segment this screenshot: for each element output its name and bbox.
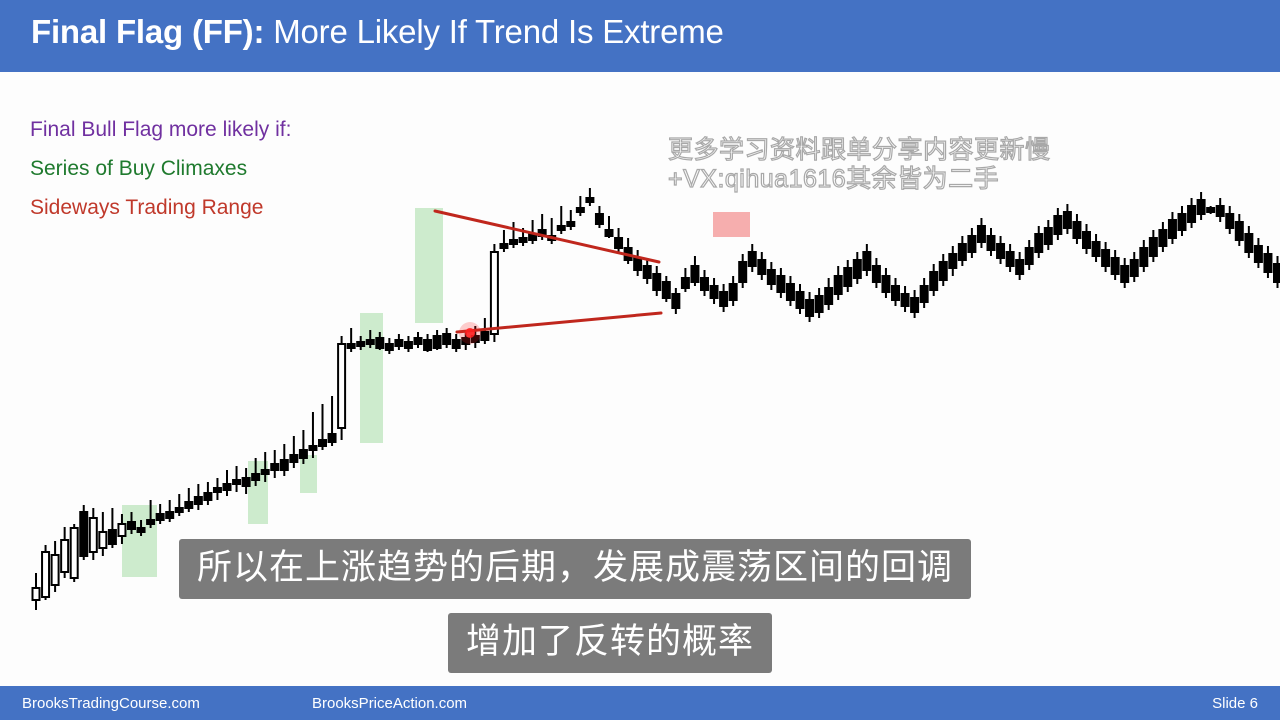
candle-body-down bbox=[147, 520, 154, 524]
candle-body-down bbox=[768, 270, 775, 284]
candle-body-down bbox=[749, 252, 756, 266]
candle-body-down bbox=[1083, 232, 1090, 248]
cursor-dot bbox=[465, 328, 475, 338]
candle-body-down bbox=[1159, 230, 1166, 246]
candle-body-down bbox=[1093, 242, 1100, 256]
trendlines bbox=[435, 211, 661, 332]
candle-body-down bbox=[596, 214, 603, 224]
candle-body-down bbox=[329, 434, 336, 442]
candle-body-down bbox=[644, 266, 651, 278]
candle-body-down bbox=[443, 334, 450, 344]
candle-body-up bbox=[118, 524, 125, 536]
candle-body-down bbox=[653, 274, 660, 290]
candle-body-down bbox=[157, 514, 164, 520]
candle-body-down bbox=[262, 470, 269, 474]
candle-body-down bbox=[243, 478, 250, 486]
subtitle-line-2: 增加了反转的概率 bbox=[448, 613, 772, 673]
candle-body-down bbox=[520, 238, 527, 242]
candle-body-down bbox=[988, 236, 995, 250]
candle-body-down bbox=[80, 512, 87, 556]
candle-body-down bbox=[1255, 246, 1262, 262]
watermark-line-2: +VX:qihua1616其余皆为二手 bbox=[668, 165, 1148, 194]
candle-body-down bbox=[825, 288, 832, 304]
candle-body-down bbox=[195, 497, 202, 504]
candle-body-down bbox=[405, 342, 412, 348]
candle-body-down bbox=[415, 338, 422, 344]
candle-body-down bbox=[224, 484, 231, 490]
candle-body-down bbox=[252, 474, 259, 480]
candle-body-down bbox=[720, 292, 727, 306]
candle-body-down bbox=[1264, 254, 1271, 272]
candle-body-down bbox=[281, 460, 288, 470]
candle-body-down bbox=[882, 276, 889, 292]
candle-body-down bbox=[730, 284, 737, 300]
candle-body-down bbox=[348, 344, 355, 348]
buy-climax-zone bbox=[415, 208, 443, 323]
candle-body-down bbox=[691, 266, 698, 282]
candle-body-down bbox=[1131, 260, 1138, 276]
candle-body-down bbox=[930, 272, 937, 290]
footer-link-trading-course[interactable]: BrooksTradingCourse.com bbox=[22, 695, 200, 712]
candle-body-down bbox=[777, 276, 784, 292]
candle-body-down bbox=[921, 286, 928, 302]
candle-body-down bbox=[1179, 214, 1186, 230]
candle-body-down bbox=[663, 282, 670, 298]
page-title-rest: More Likely If Trend Is Extreme bbox=[264, 13, 723, 50]
candle-body-down bbox=[1026, 248, 1033, 264]
candle-body-down bbox=[634, 258, 641, 270]
candle-body-down bbox=[271, 464, 278, 470]
candle-body-down bbox=[854, 260, 861, 278]
upper-wedge-line bbox=[435, 211, 659, 262]
candle-body-down bbox=[1198, 200, 1205, 214]
candle-body-down bbox=[1121, 266, 1128, 282]
candle-body-down bbox=[1207, 208, 1214, 212]
candle-body-down bbox=[682, 278, 689, 288]
candle-body-down bbox=[816, 296, 823, 312]
candle-body-down bbox=[290, 455, 297, 462]
candle-body-down bbox=[376, 338, 383, 348]
candle-body-down bbox=[1054, 216, 1061, 234]
candle-body-down bbox=[949, 254, 956, 268]
candle-body-down bbox=[672, 294, 679, 308]
footer-link-price-action[interactable]: BrooksPriceAction.com bbox=[312, 695, 467, 712]
candle-body-down bbox=[1188, 206, 1195, 222]
candle-body-down bbox=[453, 340, 460, 348]
candle-body-down bbox=[997, 244, 1004, 258]
candle-body-down bbox=[357, 342, 364, 346]
candle-body-down bbox=[739, 262, 746, 282]
candle-body-down bbox=[204, 493, 211, 500]
candle-body-down bbox=[138, 528, 145, 532]
candle-body-down bbox=[959, 244, 966, 260]
candle-body-up bbox=[90, 518, 97, 552]
candle-body-down bbox=[109, 530, 116, 544]
watermark-line-1: 更多学习资料跟单分享内容更新慢 bbox=[668, 136, 1148, 165]
candle-body-down bbox=[701, 278, 708, 290]
candle-body-down bbox=[185, 502, 192, 508]
candle-body-down bbox=[567, 222, 574, 226]
slide-number: Slide 6 bbox=[1212, 695, 1258, 712]
candle-body-down bbox=[758, 260, 765, 274]
candle-body-down bbox=[978, 226, 985, 242]
candle-body-up bbox=[99, 532, 106, 548]
candle-body-down bbox=[1236, 222, 1243, 240]
candle-body-down bbox=[558, 226, 565, 230]
candle-body-down bbox=[233, 480, 240, 484]
candle-body-down bbox=[1112, 258, 1119, 274]
candle-body-up bbox=[42, 552, 49, 597]
watermark-overlay: 更多学习资料跟单分享内容更新慢 +VX:qihua1616其余皆为二手 bbox=[668, 136, 1148, 194]
candle-body-down bbox=[128, 522, 135, 529]
candle-body-down bbox=[892, 286, 899, 300]
candle-body-down bbox=[1245, 234, 1252, 252]
candle-body-down bbox=[481, 332, 488, 340]
candle-body-down bbox=[797, 292, 804, 308]
candle-body-down bbox=[835, 276, 842, 294]
candle-body-down bbox=[309, 446, 316, 450]
candle-body-down bbox=[911, 298, 918, 312]
sell-climax-zone bbox=[713, 212, 750, 237]
candle-body-up bbox=[338, 344, 345, 428]
candle-body-down bbox=[1064, 212, 1071, 228]
candle-body-down bbox=[1035, 234, 1042, 252]
candle-body-down bbox=[214, 488, 221, 492]
candle-body-down bbox=[176, 508, 183, 512]
candle-body-down bbox=[424, 340, 431, 350]
page-title-strong: Final Flag (FF): bbox=[31, 13, 264, 50]
candle-body-down bbox=[395, 340, 402, 346]
candle-body-down bbox=[510, 240, 517, 244]
candle-body-down bbox=[1140, 248, 1147, 266]
candle-body-down bbox=[787, 284, 794, 300]
candle-body-down bbox=[300, 450, 307, 458]
candle-body-up bbox=[71, 528, 78, 578]
candle-body-down bbox=[606, 230, 613, 236]
candle-body-down bbox=[1073, 222, 1080, 238]
candle-body-down bbox=[586, 198, 593, 202]
candle-body-down bbox=[902, 294, 909, 306]
candle-body-down bbox=[1169, 220, 1176, 238]
candle-body-down bbox=[1102, 250, 1109, 266]
candle-body-down bbox=[1226, 214, 1233, 228]
candle-body-down bbox=[577, 208, 584, 212]
candle-body-up bbox=[52, 555, 59, 585]
candle-body-down bbox=[844, 268, 851, 286]
buy-climax-zone bbox=[122, 505, 157, 577]
candle-body-down bbox=[166, 512, 173, 518]
candle-body-up bbox=[33, 588, 40, 600]
lower-wedge-line bbox=[457, 313, 661, 332]
sell-climax-zones bbox=[713, 212, 750, 237]
candle-body-down bbox=[863, 252, 870, 270]
candle-body-up bbox=[491, 252, 498, 334]
candle-body-down bbox=[386, 344, 393, 350]
candle-body-down bbox=[434, 336, 441, 348]
candle-body-down bbox=[319, 440, 326, 446]
candle-body-down bbox=[1007, 252, 1014, 266]
cursor-marker bbox=[459, 322, 481, 344]
candle-body-down bbox=[1274, 264, 1280, 282]
candle-body-down bbox=[711, 286, 718, 298]
candle-body-down bbox=[1217, 206, 1224, 216]
candle-body-down bbox=[1016, 260, 1023, 274]
subtitle-line-1: 所以在上涨趋势的后期，发展成震荡区间的回调 bbox=[179, 539, 971, 599]
candle-body-down bbox=[1045, 228, 1052, 244]
candle-body-down bbox=[806, 300, 813, 316]
candle-body-down bbox=[615, 238, 622, 248]
candle-body-down bbox=[968, 236, 975, 252]
candle-body-down bbox=[500, 244, 507, 248]
page-title: Final Flag (FF): More Likely If Trend Is… bbox=[31, 13, 724, 51]
candle-body-down bbox=[367, 340, 374, 344]
candle-body-down bbox=[940, 262, 947, 280]
candle-body-down bbox=[1150, 238, 1157, 256]
candle-body-up bbox=[61, 540, 68, 572]
candle-body-down bbox=[873, 266, 880, 282]
